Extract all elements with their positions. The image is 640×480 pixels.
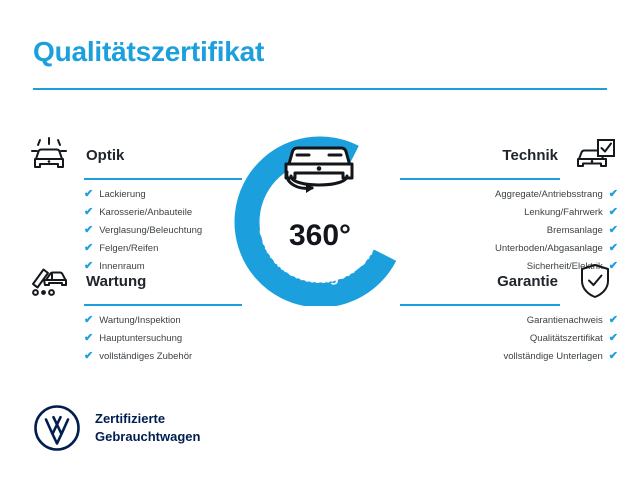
car-checkbox-icon xyxy=(572,135,618,175)
check-icon: ✔ xyxy=(609,333,618,344)
badge-center-label: 360° xyxy=(232,219,408,253)
check-icon: ✔ xyxy=(84,189,93,200)
list-item-label: vollständige Unterlagen xyxy=(503,352,602,362)
section-wartung-title: Wartung xyxy=(86,273,146,290)
list-item: ✔ Lackierung xyxy=(84,189,242,200)
footer-text: Zertifizierte Gebrauchtwagen xyxy=(95,410,200,445)
footer: Zertifizierte Gebrauchtwagen xyxy=(33,404,200,452)
check-icon: ✔ xyxy=(84,333,93,344)
list-item-label: Garantienachweis xyxy=(527,316,603,326)
list-item-label: Qualitätszertifikat xyxy=(530,334,603,344)
footer-line-2: Gebrauchtwagen xyxy=(95,428,200,446)
check-icon: ✔ xyxy=(84,225,93,236)
list-item: ✔ Garantienachweis xyxy=(400,315,618,326)
list-item: ✔ Wartung/Inspektion xyxy=(84,315,242,326)
list-item: ✔ Felgen/Reifen xyxy=(84,243,242,254)
list-item: ✔ vollständige Unterlagen xyxy=(400,351,618,362)
list-item: ✔ Qualitätszertifikat xyxy=(400,333,618,344)
section-optik: Optik ✔ Lackierung ✔ Karosserie/Anbautei… xyxy=(26,132,242,279)
section-wartung-header: Wartung xyxy=(26,258,242,304)
section-wartung-divider xyxy=(84,304,242,306)
section-optik-header: Optik xyxy=(26,132,242,178)
badge-360-check: Gebrauchtwagen-Check 360° xyxy=(232,126,408,306)
section-technik-title: Technik xyxy=(502,147,558,164)
list-item-label: Unterboden/Abgasanlage xyxy=(495,244,603,254)
section-garantie-divider xyxy=(400,304,560,306)
page-title: Qualitätszertifikat xyxy=(33,36,264,68)
vw-logo-icon xyxy=(33,404,81,452)
check-icon: ✔ xyxy=(609,351,618,362)
list-item-label: Wartung/Inspektion xyxy=(99,316,181,326)
section-technik-divider xyxy=(400,178,560,180)
header-divider xyxy=(33,88,607,90)
list-item-label: Lackierung xyxy=(99,190,145,200)
section-garantie: Garantie ✔ Garantienachweis ✔ Qualitätsz… xyxy=(400,258,618,369)
check-icon: ✔ xyxy=(84,207,93,218)
list-item-label: Lenkung/Fahrwerk xyxy=(524,208,603,218)
list-item-label: Verglasung/Beleuchtung xyxy=(99,226,202,236)
section-technik: Technik ✔ Aggregate/Antriebsstrang ✔ Len… xyxy=(400,132,618,279)
list-item: ✔ Bremsanlage xyxy=(400,225,618,236)
footer-line-1: Zertifizierte xyxy=(95,410,200,428)
list-item: ✔ vollständiges Zubehör xyxy=(84,351,242,362)
check-icon: ✔ xyxy=(84,351,93,362)
list-item: ✔ Lenkung/Fahrwerk xyxy=(400,207,618,218)
certificate-page: Qualitätszertifikat Optik xyxy=(0,0,640,480)
section-optik-divider xyxy=(84,178,242,180)
section-optik-title: Optik xyxy=(86,147,124,164)
section-technik-header: Technik xyxy=(400,132,618,178)
car-shine-icon xyxy=(26,135,72,175)
check-icon: ✔ xyxy=(609,207,618,218)
list-item-label: Bremsanlage xyxy=(547,226,603,236)
section-wartung: Wartung ✔ Wartung/Inspektion ✔ Hauptunte… xyxy=(26,258,242,369)
section-wartung-list: ✔ Wartung/Inspektion ✔ Hauptuntersuchung… xyxy=(84,315,242,362)
section-garantie-header: Garantie xyxy=(400,258,618,304)
list-item: ✔ Verglasung/Beleuchtung xyxy=(84,225,242,236)
check-icon: ✔ xyxy=(84,243,93,254)
check-icon: ✔ xyxy=(609,315,618,326)
shield-check-icon xyxy=(572,261,618,301)
list-item-label: vollständiges Zubehör xyxy=(99,352,192,362)
list-item-label: Aggregate/Antriebsstrang xyxy=(495,190,603,200)
list-item: ✔ Karosserie/Anbauteile xyxy=(84,207,242,218)
list-item: ✔ Hauptuntersuchung xyxy=(84,333,242,344)
list-item-label: Karosserie/Anbauteile xyxy=(99,208,192,218)
section-garantie-list: ✔ Garantienachweis ✔ Qualitätszertifikat… xyxy=(400,315,618,362)
list-item: ✔ Aggregate/Antriebsstrang xyxy=(400,189,618,200)
check-icon: ✔ xyxy=(609,243,618,254)
list-item-label: Felgen/Reifen xyxy=(99,244,158,254)
list-item: ✔ Unterboden/Abgasanlage xyxy=(400,243,618,254)
car-service-pen-icon xyxy=(26,261,72,301)
check-icon: ✔ xyxy=(609,225,618,236)
check-icon: ✔ xyxy=(609,189,618,200)
list-item-label: Hauptuntersuchung xyxy=(99,334,182,344)
car-rotate-icon xyxy=(286,148,352,193)
section-garantie-title: Garantie xyxy=(497,273,558,290)
check-icon: ✔ xyxy=(84,315,93,326)
